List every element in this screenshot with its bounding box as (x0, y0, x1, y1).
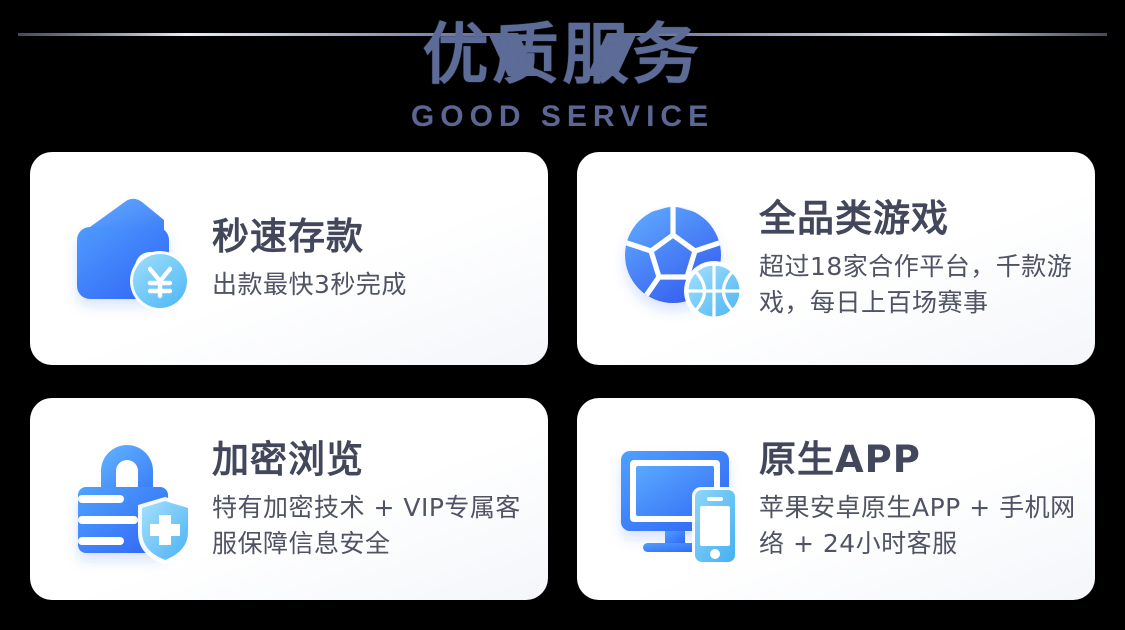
wallet-coin-icon (64, 189, 204, 329)
service-card-text: 原生APP 苹果安卓原生APP + 手机网络 + 24小时客服 (751, 437, 1095, 562)
header-title-block: 优质服务 GOOD SERVICE (0, 0, 1125, 134)
service-card-encryption[interactable]: 加密浏览 特有加密技术 + VIP专属客服保障信息安全 (30, 398, 548, 600)
service-card-title: 全品类游戏 (759, 196, 1081, 242)
service-card-desc: 特有加密技术 + VIP专属客服保障信息安全 (212, 490, 534, 562)
lock-shield-icon (64, 429, 204, 569)
service-card-desc: 出款最快3秒完成 (212, 267, 534, 303)
service-card-native-app[interactable]: 原生APP 苹果安卓原生APP + 手机网络 + 24小时客服 (577, 398, 1095, 600)
page-subtitle: GOOD SERVICE (0, 100, 1125, 134)
service-card-grid: 秒速存款 出款最快3秒完成 (30, 152, 1095, 600)
soccer-basketball-icon (611, 189, 751, 329)
service-card-text: 秒速存款 出款最快3秒完成 (204, 214, 548, 303)
service-card-deposit[interactable]: 秒速存款 出款最快3秒完成 (30, 152, 548, 365)
service-card-title: 加密浏览 (212, 437, 534, 483)
page-title: 优质服务 (0, 0, 1125, 98)
service-card-desc: 超过18家合作平台，千款游戏，每日上百场赛事 (759, 249, 1081, 321)
service-card-text: 全品类游戏 超过18家合作平台，千款游戏，每日上百场赛事 (751, 196, 1095, 321)
service-card-desc: 苹果安卓原生APP + 手机网络 + 24小时客服 (759, 490, 1081, 562)
service-card-title: 秒速存款 (212, 214, 534, 260)
service-card-title: 原生APP (759, 437, 1081, 483)
page-header: 优质服务 GOOD SERVICE (0, 0, 1125, 145)
service-card-text: 加密浏览 特有加密技术 + VIP专属客服保障信息安全 (204, 437, 548, 562)
monitor-phone-icon (611, 429, 751, 569)
service-card-games[interactable]: 全品类游戏 超过18家合作平台，千款游戏，每日上百场赛事 (577, 152, 1095, 365)
